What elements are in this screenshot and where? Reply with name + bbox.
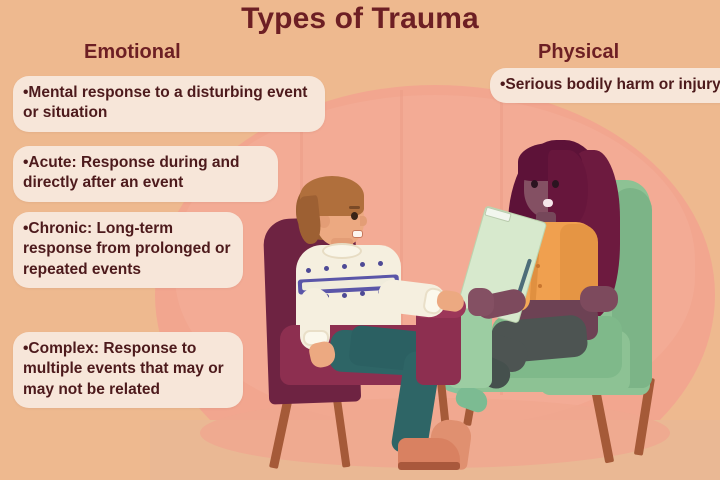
client-eyebrow-icon [349, 206, 360, 209]
client-sweater-collar [322, 243, 362, 259]
sweater-dot-icon [360, 291, 365, 296]
sweater-dot-icon [342, 264, 347, 269]
bullet-physical-1: •Serious bodily harm or injury [490, 68, 720, 103]
client-nose-icon [360, 216, 367, 226]
page-title: Types of Trauma [0, 2, 720, 36]
client-shoe-sole [398, 462, 460, 470]
therapist-right-arm [580, 286, 618, 312]
bullet-emotional-4: •Complex: Response to multiple events th… [13, 332, 243, 408]
button-icon [538, 284, 542, 288]
bullet-emotional-3: •Chronic: Long-term response from prolon… [13, 212, 243, 288]
bullet-emotional-1: •Mental response to a disturbing event o… [13, 76, 325, 132]
therapist-mouth-icon [543, 199, 553, 207]
sweater-dot-icon [342, 293, 347, 298]
client-mouth-icon [352, 230, 363, 238]
column-heading-physical: Physical [538, 41, 619, 64]
therapist-hand [468, 288, 494, 316]
bullet-emotional-2: •Acute: Response during and directly aft… [13, 146, 278, 202]
therapist-eye-icon [531, 180, 538, 188]
sweater-dot-icon [360, 262, 365, 267]
therapist-eye-icon [552, 180, 559, 188]
sweater-dot-icon [306, 268, 311, 273]
button-icon [536, 264, 540, 268]
sweater-dot-icon [378, 261, 383, 266]
infographic-poster: Types of Trauma Emotional Physical •Ment… [0, 0, 720, 480]
client-eye-icon [351, 212, 358, 220]
sweater-dot-icon [324, 266, 329, 271]
column-heading-emotional: Emotional [84, 41, 181, 64]
